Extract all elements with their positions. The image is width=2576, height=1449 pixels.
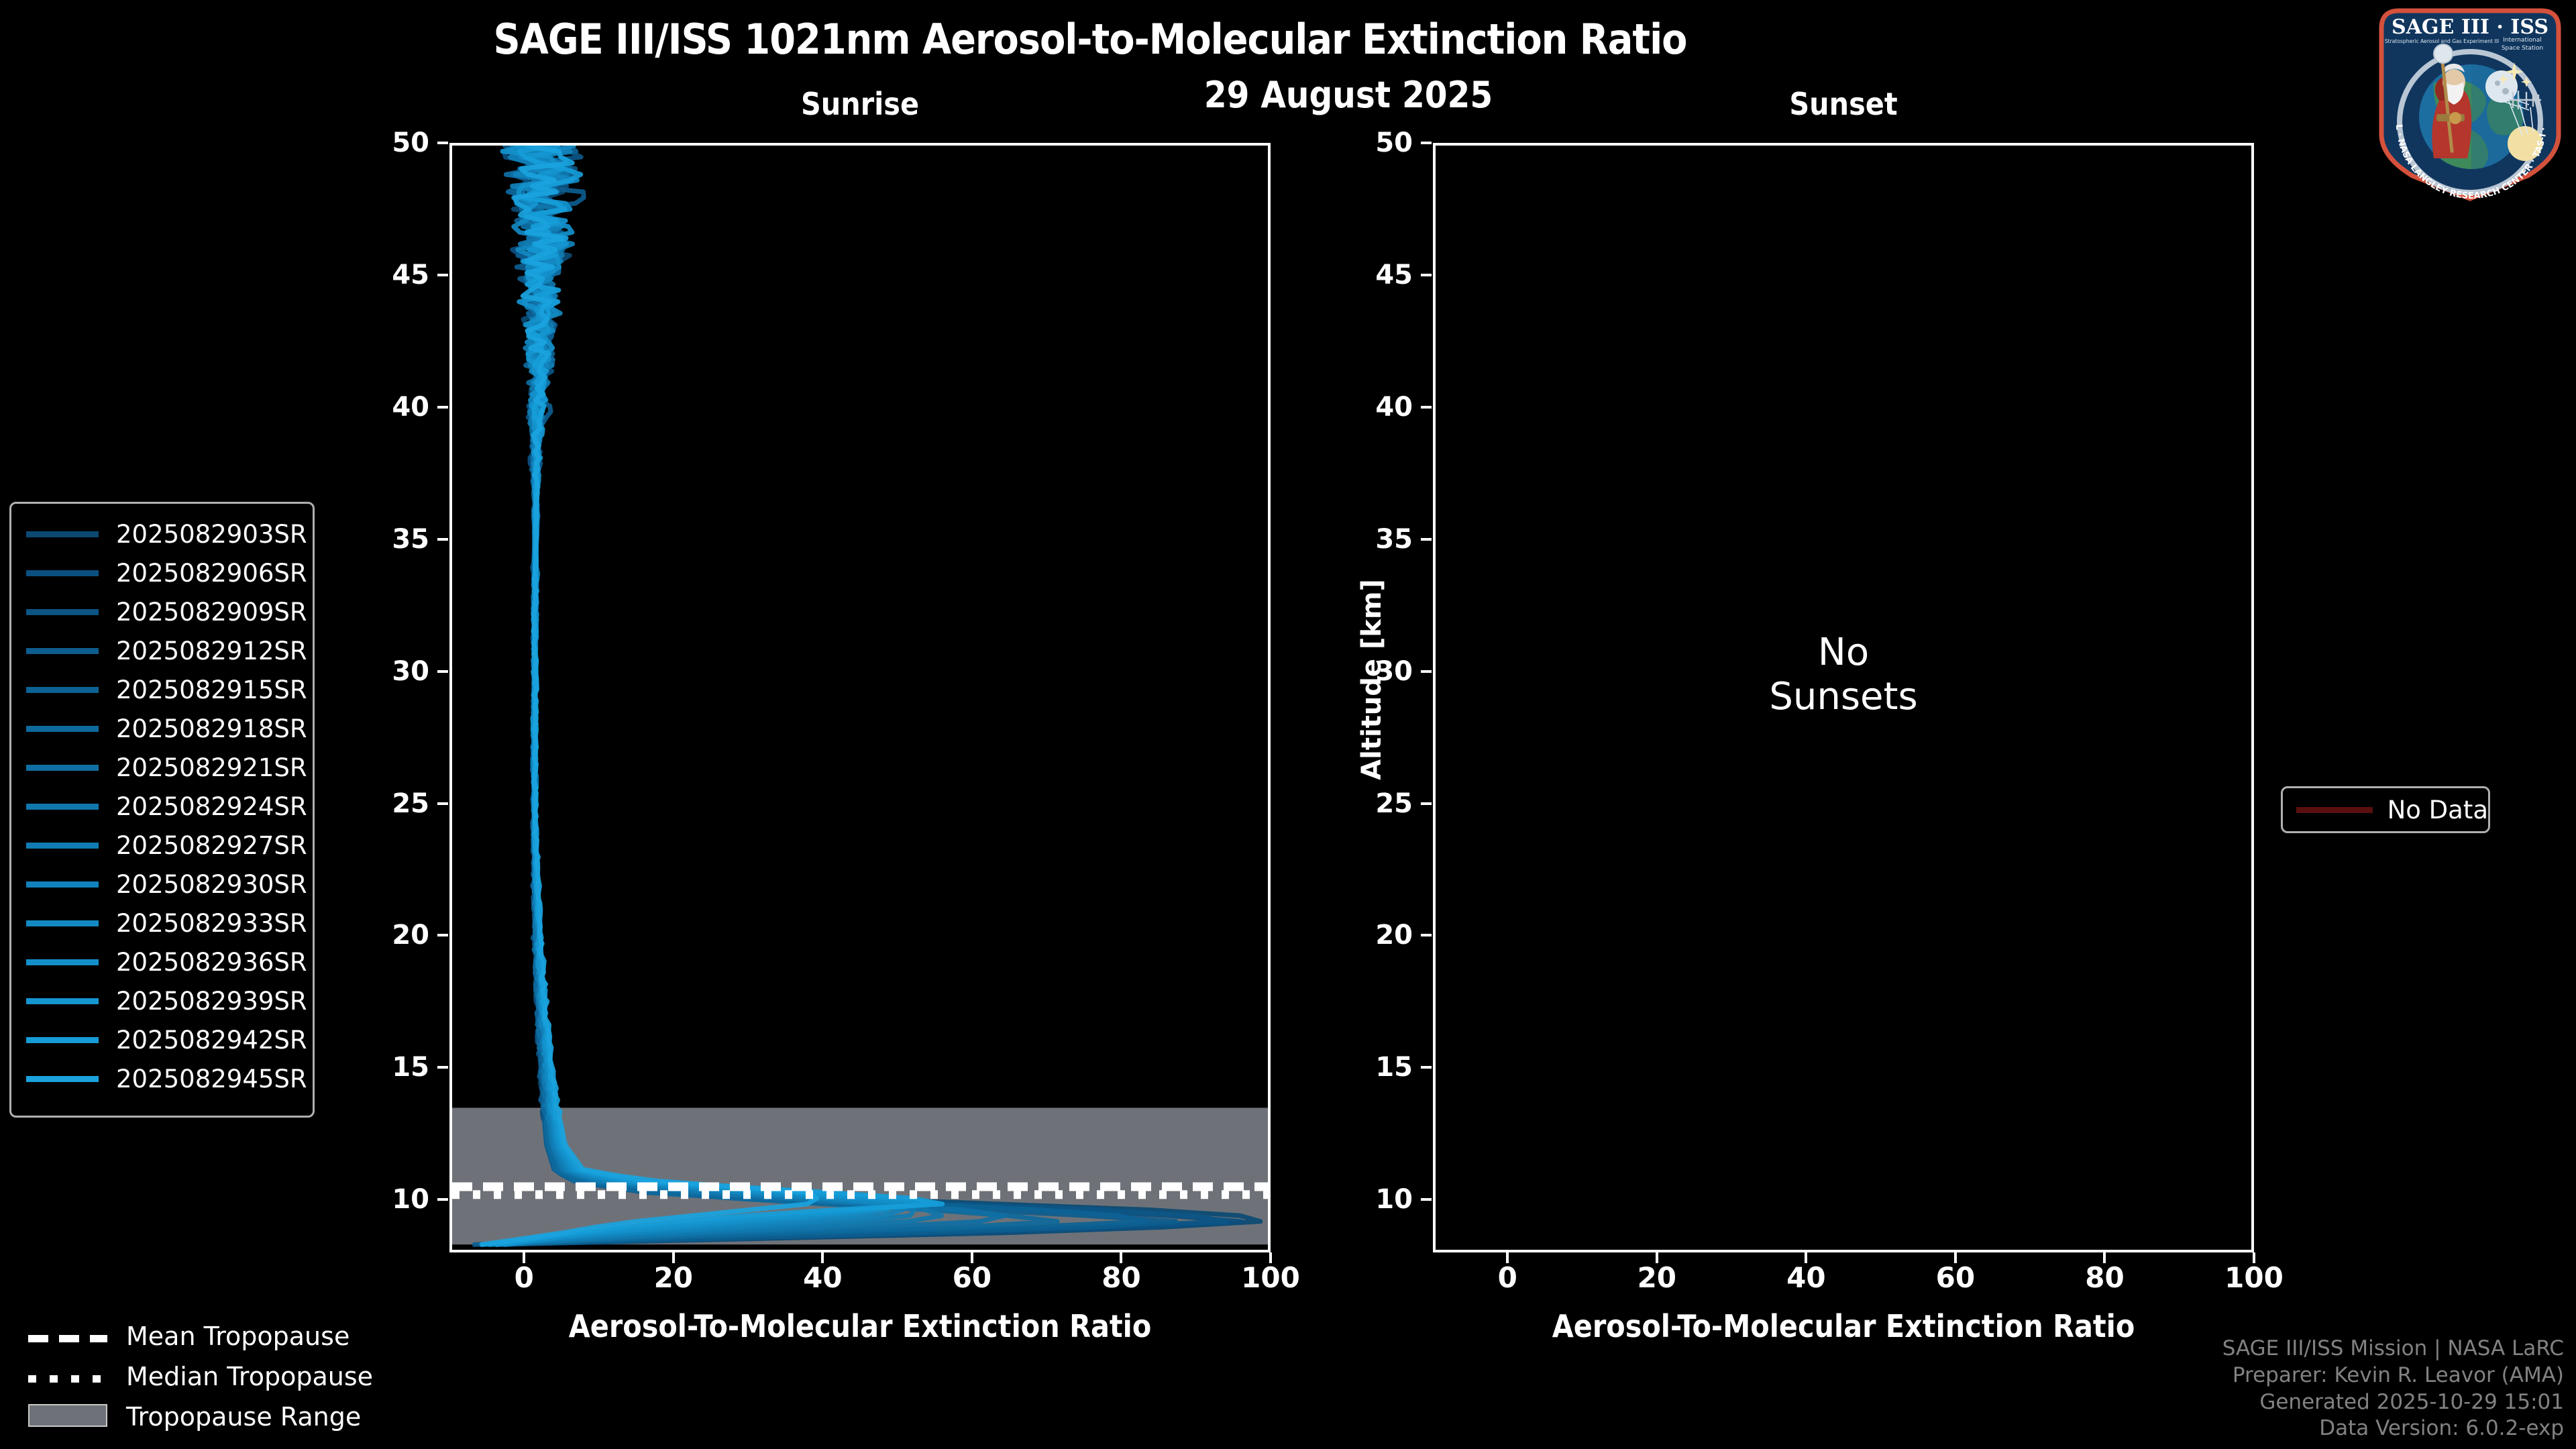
y-tick-label-25: 25 (349, 788, 429, 819)
y-tick-label-35: 35 (349, 524, 429, 555)
x-tick-mark (1805, 1252, 1807, 1263)
legend-item-2025082915sr[interactable]: 2025082915SR (11, 670, 313, 709)
legend-color-swatch (26, 959, 99, 965)
profile-line-2025082909sr (504, 146, 1226, 1244)
sage-iii-iss-mission-patch-logo: SAGE III · ISS Stratospheric Aerosol and… (2369, 3, 2571, 204)
credits-block: SAGE III/ISS Mission | NASA LaRC Prepare… (2222, 1336, 2564, 1442)
legend-color-swatch (26, 531, 99, 537)
legend-item-label: 2025082939SR (116, 987, 307, 1016)
y-tick-label-20: 20 (349, 920, 429, 951)
y-tick-label-15: 15 (349, 1052, 429, 1083)
legend-item-label: 2025082930SR (116, 870, 307, 899)
legend-item-2025082927sr[interactable]: 2025082927SR (11, 826, 313, 865)
y-tick-label-35: 35 (1332, 524, 1413, 555)
profile-line-2025082936sr (502, 146, 916, 1244)
x-tick-label-40: 40 (772, 1261, 873, 1294)
x-tick-mark (2253, 1252, 2255, 1263)
no-data-swatch (2296, 807, 2373, 813)
x-tick-label-0: 0 (1457, 1261, 1558, 1294)
mission-patch-svg: SAGE III · ISS Stratospheric Aerosol and… (2369, 3, 2571, 204)
credit-line-generated: Generated 2025-10-29 15:01 (2222, 1389, 2564, 1416)
legend-row-mean-tropopause: Mean Tropopause (13, 1316, 362, 1356)
no-sunsets-line1: No (1433, 631, 2254, 675)
sunset-panel-title: Sunset (1433, 86, 2254, 122)
y-tick-mark (1421, 1198, 1432, 1201)
legend-item-2025082924sr[interactable]: 2025082924SR (11, 787, 313, 826)
dashed-line-icon (28, 1335, 107, 1342)
legend-color-swatch (26, 881, 99, 888)
x-tick-mark (971, 1252, 973, 1263)
legend-item-2025082918sr[interactable]: 2025082918SR (11, 709, 313, 748)
x-tick-label-20: 20 (1607, 1261, 1707, 1294)
x-tick-mark (2103, 1252, 2106, 1263)
y-tick-mark (437, 670, 448, 673)
no-data-legend[interactable]: No Data (2281, 786, 2490, 833)
tropopause-legend: Mean Tropopause Median Tropopause Tropop… (13, 1316, 362, 1437)
x-axis-label-left: Aerosol-To-Molecular Extinction Ratio (449, 1308, 1271, 1344)
y-tick-mark (1421, 802, 1432, 805)
y-tick-mark (437, 538, 448, 541)
y-tick-mark (1421, 934, 1432, 936)
y-tick-mark (1421, 1066, 1432, 1069)
legend-item-label: 2025082915SR (116, 676, 307, 704)
legend-color-swatch (26, 804, 99, 810)
y-tick-label-40: 40 (349, 392, 429, 423)
legend-color-swatch (26, 609, 99, 615)
logo-subtitle-right-2: Space Station (2502, 45, 2543, 52)
y-tick-mark (1421, 274, 1432, 276)
legend-item-label: 2025082927SR (116, 831, 307, 860)
legend-color-swatch (26, 687, 99, 693)
legend-color-swatch (26, 570, 99, 576)
legend-color-swatch (26, 843, 99, 849)
profile-line-2025082903sr (496, 146, 1260, 1244)
y-tick-label-50: 50 (1332, 127, 1413, 158)
legend-item-label: 2025082942SR (116, 1026, 307, 1055)
y-tick-mark (1421, 538, 1432, 541)
legend-item-2025082933sr[interactable]: 2025082933SR (11, 904, 313, 943)
legend-item-label: 2025082936SR (116, 948, 307, 977)
legend-item-label: 2025082924SR (116, 792, 307, 821)
median-tropopause-label: Median Tropopause (126, 1362, 373, 1391)
legend-item-label: 2025082909SR (116, 598, 307, 627)
y-tick-label-25: 25 (1332, 788, 1413, 819)
legend-row-tropopause-range: Tropopause Range (13, 1397, 362, 1437)
legend-item-2025082945sr[interactable]: 2025082945SR (11, 1059, 313, 1098)
legend-color-swatch (26, 765, 99, 771)
profile-line-2025082924sr (504, 146, 941, 1244)
x-tick-mark (672, 1252, 675, 1263)
no-data-label: No Data (2387, 796, 2488, 824)
y-tick-label-30: 30 (349, 656, 429, 687)
x-tick-label-40: 40 (1756, 1261, 1856, 1294)
y-tick-mark (1421, 406, 1432, 409)
x-axis-label-right: Aerosol-To-Molecular Extinction Ratio (1433, 1308, 2254, 1344)
legend-color-swatch (26, 648, 99, 654)
profile-line-2025082942sr (496, 146, 942, 1244)
tropopause-range-label: Tropopause Range (126, 1402, 361, 1432)
legend-item-2025082903sr[interactable]: 2025082903SR (11, 515, 313, 553)
x-tick-mark (1954, 1252, 1957, 1263)
legend-item-2025082909sr[interactable]: 2025082909SR (11, 592, 313, 631)
credit-line-version: Data Version: 6.0.2-exp (2222, 1415, 2564, 1442)
y-tick-label-15: 15 (1332, 1052, 1413, 1083)
y-tick-label-10: 10 (349, 1184, 429, 1215)
legend-item-label: 2025082921SR (116, 753, 307, 782)
y-tick-label-30: 30 (1332, 656, 1413, 687)
page-title: SAGE III/ISS 1021nm Aerosol-to-Molecular… (0, 15, 2180, 64)
x-tick-mark (1656, 1252, 1658, 1263)
x-tick-label-60: 60 (1905, 1261, 2006, 1294)
x-tick-mark (821, 1252, 824, 1263)
no-sunsets-line2: Sunsets (1433, 675, 2254, 719)
legend-item-label: 2025082912SR (116, 637, 307, 665)
x-tick-mark (1506, 1252, 1509, 1263)
credit-line-preparer: Preparer: Kevin R. Leavor (AMA) (2222, 1362, 2564, 1389)
y-tick-label-20: 20 (1332, 920, 1413, 951)
profile-line-2025082912sr (489, 146, 1176, 1244)
sunrise-profile-svg (452, 146, 1268, 1250)
no-sunsets-annotation: No Sunsets (1433, 631, 2254, 719)
y-tick-mark (437, 1066, 448, 1069)
y-tick-mark (1421, 670, 1432, 673)
legend-color-swatch (26, 1076, 99, 1082)
y-tick-mark (437, 1198, 448, 1201)
credit-line-mission: SAGE III/ISS Mission | NASA LaRC (2222, 1336, 2564, 1362)
range-swatch-icon (28, 1404, 107, 1427)
x-tick-label-80: 80 (1071, 1261, 1171, 1294)
y-tick-label-50: 50 (349, 127, 429, 158)
x-tick-label-100: 100 (2204, 1261, 2304, 1294)
legend-item-2025082906sr[interactable]: 2025082906SR (11, 553, 313, 592)
legend-row-median-tropopause: Median Tropopause (13, 1356, 362, 1397)
profile-line-2025082906sr (482, 146, 1241, 1244)
y-tick-label-45: 45 (349, 260, 429, 290)
dotted-line-icon (28, 1375, 107, 1383)
y-tick-mark (437, 274, 448, 276)
x-tick-label-80: 80 (2054, 1261, 2155, 1294)
logo-subtitle-right-1: International (2503, 37, 2541, 44)
legend-item-2025082921sr[interactable]: 2025082921SR (11, 748, 313, 787)
series-legend[interactable]: 2025082903SR2025082906SR2025082909SR2025… (9, 502, 315, 1118)
legend-item-2025082930sr[interactable]: 2025082930SR (11, 865, 313, 904)
x-tick-label-0: 0 (474, 1261, 574, 1294)
legend-item-label: 2025082945SR (116, 1065, 307, 1093)
x-tick-mark (1269, 1252, 1272, 1263)
y-tick-label-40: 40 (1332, 392, 1413, 423)
x-tick-label-100: 100 (1220, 1261, 1321, 1294)
x-tick-label-60: 60 (922, 1261, 1022, 1294)
sunrise-plot-canvas (452, 146, 1268, 1250)
logo-title-text: SAGE III · ISS (2392, 15, 2548, 39)
legend-item-2025082939sr[interactable]: 2025082939SR (11, 981, 313, 1020)
y-tick-mark (437, 934, 448, 936)
x-tick-mark (1120, 1252, 1122, 1263)
y-tick-mark (437, 802, 448, 805)
x-tick-mark (523, 1252, 525, 1263)
legend-item-label: 2025082933SR (116, 909, 307, 938)
legend-item-label: 2025082903SR (116, 520, 307, 549)
legend-color-swatch (26, 920, 99, 926)
y-tick-mark (1421, 142, 1432, 144)
profile-line-2025082921sr (482, 146, 1004, 1244)
profile-line-2025082918sr (496, 146, 1057, 1244)
logo-subtitle-left: Stratospheric Aerosol and Gas Experiment… (2385, 38, 2499, 44)
legend-color-swatch (26, 726, 99, 732)
legend-item-2025082936sr[interactable]: 2025082936SR (11, 943, 313, 981)
x-tick-label-20: 20 (623, 1261, 724, 1294)
legend-item-2025082912sr[interactable]: 2025082912SR (11, 631, 313, 670)
profile-line-2025082915sr (474, 146, 1146, 1244)
legend-item-2025082942sr[interactable]: 2025082942SR (11, 1020, 313, 1059)
mean-tropopause-label: Mean Tropopause (126, 1322, 350, 1351)
legend-color-swatch (26, 998, 99, 1004)
y-tick-mark (437, 142, 448, 144)
legend-color-swatch (26, 1037, 99, 1043)
sunrise-plot-area (449, 143, 1271, 1252)
y-tick-label-10: 10 (1332, 1184, 1413, 1215)
y-tick-label-45: 45 (1332, 260, 1413, 290)
legend-item-label: 2025082906SR (116, 559, 307, 588)
legend-item-label: 2025082918SR (116, 714, 307, 743)
sunrise-panel-title: Sunrise (449, 86, 1271, 122)
y-tick-mark (437, 406, 448, 409)
